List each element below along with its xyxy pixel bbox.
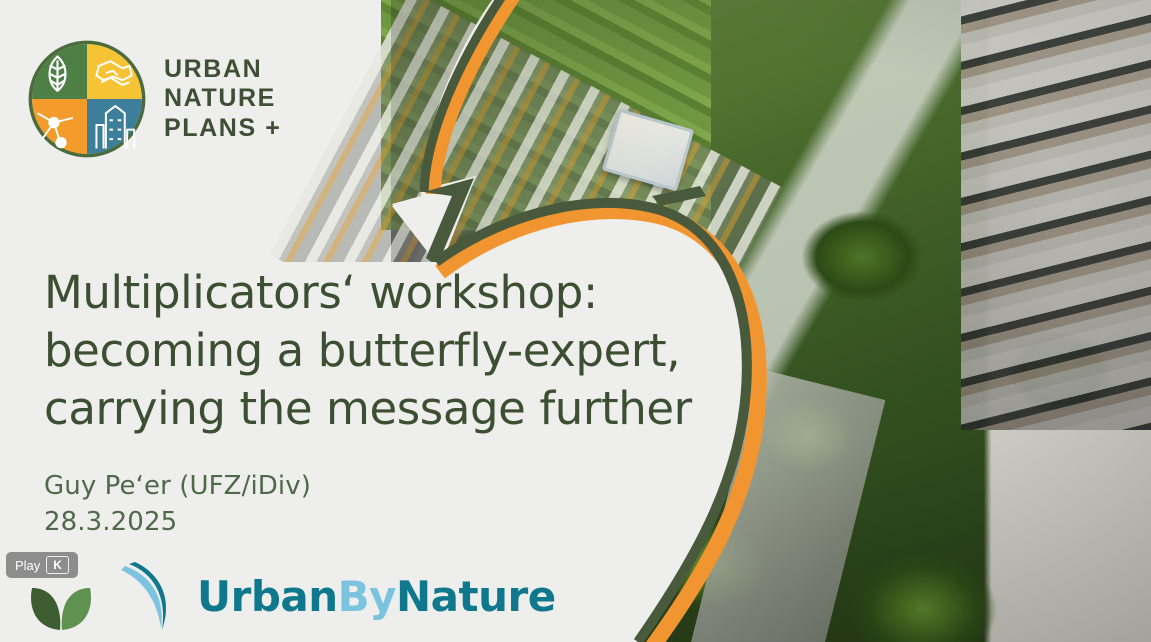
presentation-slide: URBAN NATURE PLANS + Multiplicators‘ wor… [0, 0, 1151, 642]
ubn-by: By [338, 572, 396, 621]
unp-wordmark: URBAN NATURE PLANS + [164, 55, 281, 144]
play-shortcut-key: K [46, 556, 69, 574]
ubn-wordmark: UrbanByNature [197, 572, 556, 621]
play-tooltip[interactable]: Play K [6, 552, 78, 578]
title-line-1: Multiplicators‘ workshop: [44, 264, 684, 322]
unp-line-3: PLANS + [164, 114, 281, 144]
play-tooltip-label: Play [15, 559, 40, 572]
presentation-date: 28.3.2025 [44, 504, 311, 540]
ubn-nature: Nature [396, 572, 556, 621]
unp-line-2: NATURE [164, 84, 281, 114]
sprout-leaves-icon [26, 578, 96, 632]
slide-byline: Guy Pe‘er (UFZ/iDiv) 28.3.2025 [44, 468, 311, 540]
title-line-3: carrying the message further [44, 380, 684, 438]
ubn-swoosh-icon [115, 560, 187, 632]
swoosh-inner-ledge [652, 186, 706, 206]
urban-nature-plans-logo: URBAN NATURE PLANS + [28, 40, 281, 158]
slide-title: Multiplicators‘ workshop: becoming a but… [44, 264, 684, 438]
unp-line-1: URBAN [164, 55, 281, 85]
title-line-2: becoming a butterfly-expert, [44, 322, 684, 380]
author-name: Guy Pe‘er (UFZ/iDiv) [44, 468, 311, 504]
urban-by-nature-logo: UrbanByNature [115, 560, 556, 632]
unp-circular-mark [28, 40, 146, 158]
ubn-urban: Urban [197, 572, 338, 621]
